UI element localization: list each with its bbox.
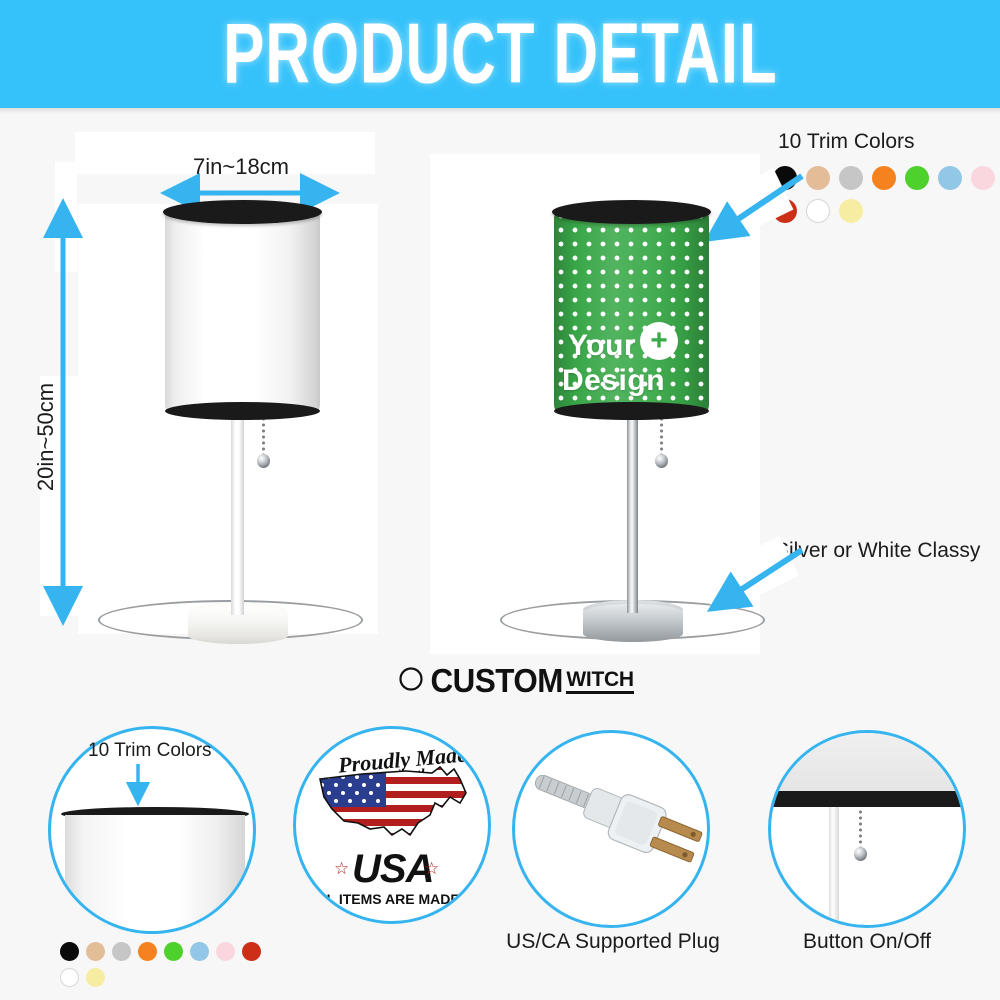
feature-circle [768, 730, 966, 928]
brand-logo: CUSTOM WITCH [392, 662, 634, 696]
trim-swatch-yellow[interactable] [839, 199, 863, 223]
trim-color-swatches-bottom [60, 942, 265, 987]
trim-swatch-green[interactable] [164, 942, 183, 961]
page-title: PRODUCT DETAIL [223, 6, 777, 103]
pull-chain [859, 809, 862, 851]
pull-chain-ball [655, 454, 668, 468]
trim-swatch-orange[interactable] [872, 166, 896, 190]
lamp-shade-green: Your + Design [554, 209, 709, 414]
lamp-trim-bottom [554, 402, 709, 420]
usa-subline: ALL ITEMS ARE MADE TO ORDER! [308, 891, 491, 907]
trim-swatch-gray[interactable] [839, 166, 863, 190]
trim-swatch-pink[interactable] [971, 166, 995, 190]
main-stage: 10 Trim Colors 7in~18cm [0, 114, 1000, 710]
usa-flag-map-icon [314, 763, 479, 848]
trim-swatch-tan[interactable] [86, 942, 105, 961]
lamp-pole [231, 410, 244, 615]
trim-swatch-pink[interactable] [216, 942, 235, 961]
usa-headline: USA [352, 847, 433, 892]
logo-main-text: CUSTOM [430, 666, 562, 696]
shade-bottom-edge [771, 733, 966, 795]
feature-caption: US/CA Supported Plug [500, 930, 726, 954]
lamp-trim-top [552, 200, 711, 224]
trim-swatch-light-blue[interactable] [190, 942, 209, 961]
logo-c-icon [392, 662, 426, 696]
lamp-pole [627, 410, 638, 613]
design-text-line1: Your [568, 329, 636, 363]
star-right-icon: ☆ [424, 859, 439, 879]
feature-caption: Button On/Off [758, 930, 976, 954]
lamp-trim-bottom [165, 402, 320, 420]
product-detail-infographic: PRODUCT DETAIL 10 Trim Colors 7in~18cm [0, 0, 1000, 1000]
pull-chain-ball [854, 847, 867, 861]
feature-circle: Proudly Made in the [293, 726, 491, 924]
pull-chain-ball [257, 454, 270, 468]
us-two-prong-plug-icon [523, 775, 703, 885]
logo-sub-text: WITCH [566, 669, 633, 694]
design-text-line2: Design [562, 364, 665, 398]
trim-swatch-yellow[interactable] [86, 968, 105, 987]
lamp-trim-bar [773, 791, 966, 807]
trim-colors-top-label: 10 Trim Colors [778, 130, 915, 154]
trim-pointer-arrow-icon [126, 762, 150, 810]
trim-swatch-green[interactable] [905, 166, 929, 190]
trim-swatch-light-blue[interactable] [938, 166, 962, 190]
trim-swatch-orange[interactable] [138, 942, 157, 961]
lamp-shade-white [165, 209, 320, 414]
trim-swatch-gray[interactable] [112, 942, 131, 961]
feature-inner-label: 10 Trim Colors [88, 740, 212, 762]
header-banner: PRODUCT DETAIL [0, 0, 1000, 108]
trim-swatch-black[interactable] [60, 942, 79, 961]
width-dimension-label: 7in~18cm [193, 154, 289, 180]
trim-swatch-white[interactable] [60, 968, 79, 987]
trim-swatch-red[interactable] [242, 942, 261, 961]
lamp-pole [829, 807, 839, 928]
feature-circle [512, 730, 710, 928]
add-design-plus-icon: + [640, 322, 678, 360]
star-left-icon: ☆ [334, 859, 349, 879]
base-finish-arrow-icon [698, 532, 818, 622]
lamp-trim-top [163, 200, 322, 224]
height-dimension-arrow-icon [52, 198, 74, 628]
shade-body-white [65, 815, 245, 934]
